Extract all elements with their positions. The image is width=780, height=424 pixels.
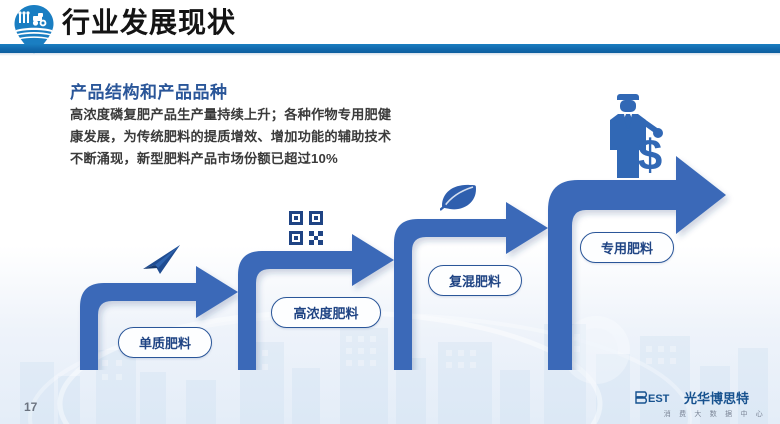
step-label-2[interactable]: 高浓度肥料	[271, 297, 381, 328]
paper-plane-icon	[140, 243, 184, 277]
qr-code-icon	[288, 210, 324, 246]
svg-text:EST: EST	[648, 393, 670, 405]
step-label-3[interactable]: 复混肥料	[428, 265, 522, 296]
brand-logo: EST 光华博思特 消 费 大 数 据 中 心	[634, 388, 768, 418]
leaf-icon	[440, 182, 478, 212]
brand-name: 光华博思特	[684, 388, 749, 407]
header-divider-shadow	[0, 53, 780, 56]
businessman-dollar-icon: $	[598, 88, 672, 180]
svg-text:$: $	[638, 131, 662, 180]
page-number: 17	[24, 400, 37, 414]
step-arrow-4	[548, 156, 726, 370]
slide: 行业发展现状 产品结构和产品品种 高浓度磷复肥产品生产量持续上升；各种作物专用肥…	[0, 0, 780, 424]
header-divider-bar	[0, 44, 780, 53]
brand-subtitle: 消 费 大 数 据 中 心	[634, 409, 768, 419]
best-logo-icon: EST	[634, 390, 680, 405]
header: 行业发展现状	[0, 0, 780, 46]
page-title: 行业发展现状	[62, 6, 236, 40]
step-label-4[interactable]: 专用肥料	[580, 232, 674, 263]
step-label-1[interactable]: 单质肥料	[118, 327, 212, 358]
